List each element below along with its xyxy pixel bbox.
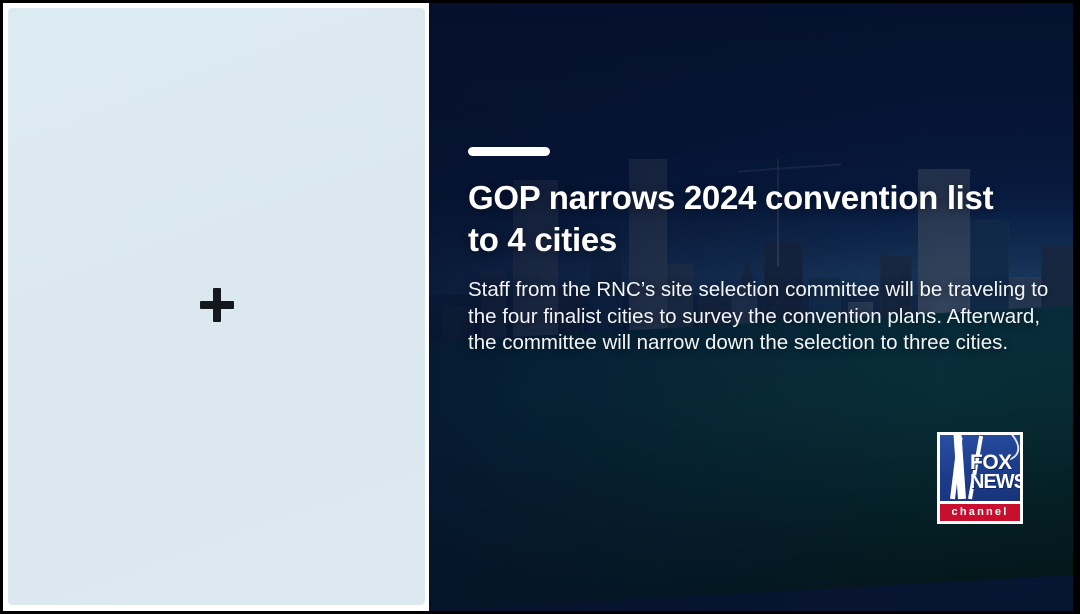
hero-text-block: GOP narrows 2024 convention list to 4 ci… [468, 147, 1058, 357]
logo-word-fox: FOX [970, 452, 1020, 473]
plus-icon[interactable] [200, 288, 234, 322]
empty-media-slot-surface[interactable] [8, 8, 425, 605]
logo-channel-banner: channel [940, 504, 1020, 521]
fox-news-channel-logo: FOX NEWS channel [937, 432, 1023, 524]
accent-rule [468, 147, 550, 156]
empty-media-slot-panel[interactable] [3, 3, 429, 611]
article-hero-card[interactable]: GOP narrows 2024 convention list to 4 ci… [429, 3, 1073, 611]
logo-word-news: NEWS [970, 472, 1020, 493]
headline: GOP narrows 2024 convention list to 4 ci… [468, 177, 1013, 261]
app-frame: GOP narrows 2024 convention list to 4 ci… [0, 0, 1080, 614]
article-summary: Staff from the RNC’s site selection comm… [468, 277, 1058, 357]
logo-blue-field: FOX NEWS [940, 435, 1020, 501]
